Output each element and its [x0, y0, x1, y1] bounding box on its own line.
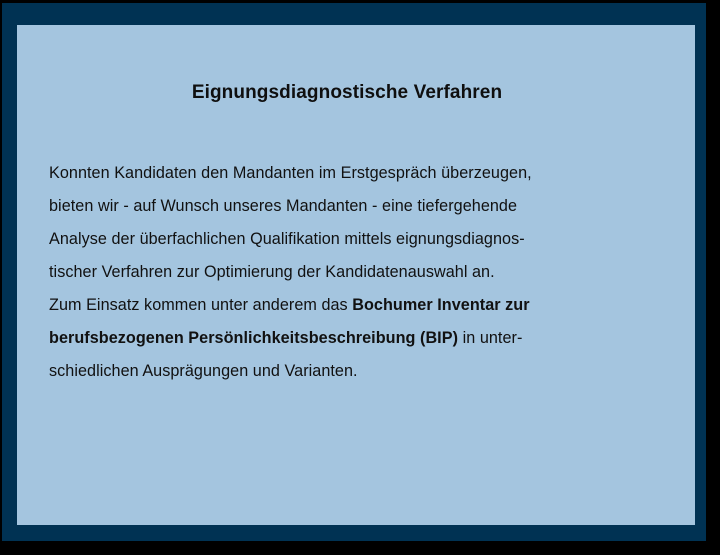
body-paragraph: Konnten Kandidaten den Mandanten im Erst…	[49, 157, 679, 388]
text-run: bieten wir - auf Wunsch unseres Mandante…	[49, 197, 517, 215]
content-panel: Eignungsdiagnostische Verfahren Konnten …	[17, 25, 695, 525]
slide-border-frame: Eignungsdiagnostische Verfahren Konnten …	[2, 3, 706, 541]
text-run: schiedlichen Ausprägungen und Varianten.	[49, 362, 358, 380]
slide-canvas: Eignungsdiagnostische Verfahren Konnten …	[0, 0, 720, 555]
paragraph-line: berufsbezogenen Persönlichkeitsbeschreib…	[49, 322, 679, 355]
paragraph-line: Konnten Kandidaten den Mandanten im Erst…	[49, 157, 679, 190]
emphasized-text-run: berufsbezogenen Persönlichkeitsbeschreib…	[49, 329, 458, 347]
text-run: Zum Einsatz kommen unter anderem das	[49, 296, 352, 314]
paragraph-line: Zum Einsatz kommen unter anderem das Boc…	[49, 289, 679, 322]
text-run: Analyse der überfachlichen Qualifikation…	[49, 230, 525, 248]
paragraph-text: Konnten Kandidaten den Mandanten im Erst…	[49, 157, 679, 388]
paragraph-line: tischer Verfahren zur Optimierung der Ka…	[49, 256, 679, 289]
text-run: tischer Verfahren zur Optimierung der Ka…	[49, 263, 495, 281]
paragraph-line: bieten wir - auf Wunsch unseres Mandante…	[49, 190, 679, 223]
page-title: Eignungsdiagnostische Verfahren	[17, 82, 677, 105]
paragraph-line: Analyse der überfachlichen Qualifikation…	[49, 223, 679, 256]
paragraph-line: schiedlichen Ausprägungen und Varianten.	[49, 355, 679, 388]
emphasized-text-run: Bochumer Inventar zur	[352, 296, 529, 314]
text-run: Konnten Kandidaten den Mandanten im Erst…	[49, 164, 532, 182]
text-run: in unter-	[458, 329, 522, 347]
